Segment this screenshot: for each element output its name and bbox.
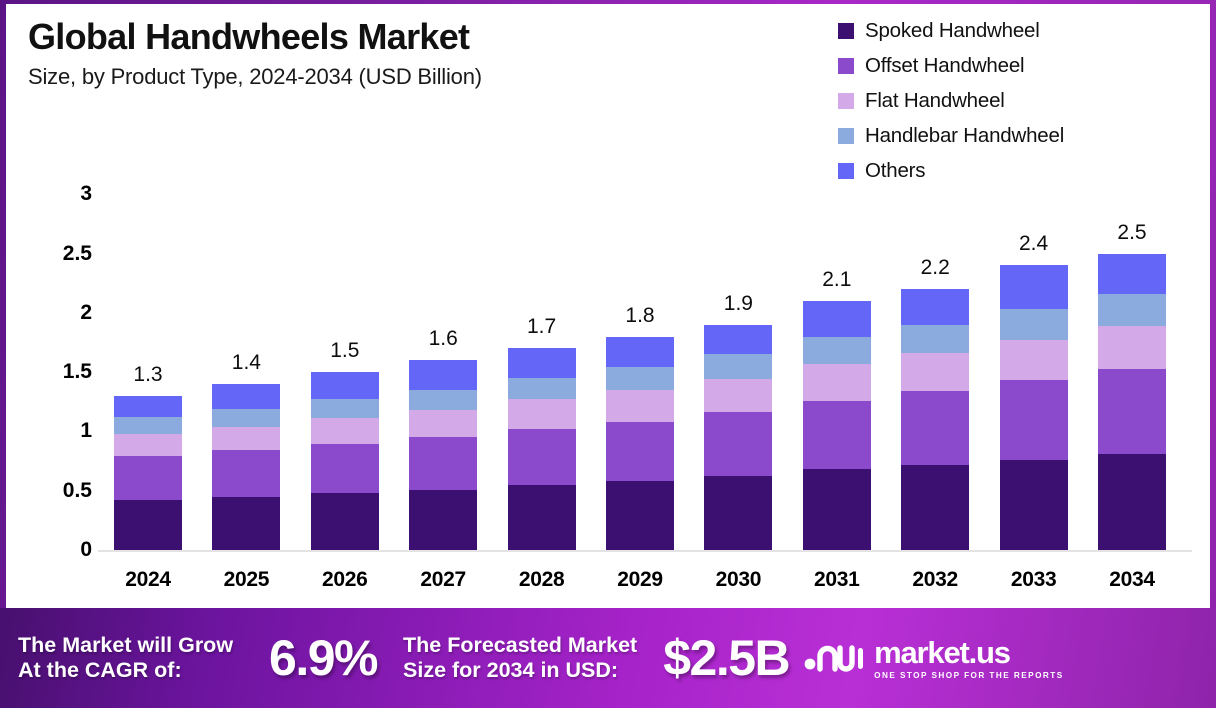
forecast-value: $2.5B (663, 629, 789, 687)
bar-segment-spoked-handwheel[interactable] (508, 485, 576, 550)
bar-segment-flat-handwheel[interactable] (311, 418, 379, 444)
bar-segment-handlebar-handwheel[interactable] (212, 409, 280, 427)
bar-segment-flat-handwheel[interactable] (901, 353, 969, 391)
bar-segment-flat-handwheel[interactable] (803, 364, 871, 401)
bar-segment-spoked-handwheel[interactable] (1098, 454, 1166, 550)
bar-stack (704, 325, 772, 550)
cagr-label-line2: At the CAGR of: (18, 658, 182, 682)
bar-segment-offset-handwheel[interactable] (409, 437, 477, 489)
forecast-label-line2: Size for 2034 in USD: (403, 658, 618, 682)
bar-segment-spoked-handwheel[interactable] (1000, 460, 1068, 550)
bar-segment-spoked-handwheel[interactable] (212, 497, 280, 550)
bar-segment-others[interactable] (114, 396, 182, 417)
bar-group-2030[interactable]: 1.92030 (704, 325, 772, 550)
bar-stack (803, 301, 871, 550)
bar-stack (1098, 254, 1166, 550)
bar-segment-flat-handwheel[interactable] (1000, 340, 1068, 380)
bar-segment-offset-handwheel[interactable] (901, 391, 969, 465)
cagr-label-line1: The Market will Grow (18, 633, 233, 657)
bar-segment-offset-handwheel[interactable] (1000, 380, 1068, 459)
bar-segment-offset-handwheel[interactable] (704, 412, 772, 476)
forecast-label: The Forecasted Market Size for 2034 in U… (403, 633, 637, 684)
bar-segment-handlebar-handwheel[interactable] (606, 367, 674, 390)
logo-tagline: ONE STOP SHOP FOR THE REPORTS (874, 671, 1063, 680)
y-axis-tick-2: 1 (80, 419, 92, 443)
bar-segment-handlebar-handwheel[interactable] (1098, 294, 1166, 326)
bar-segment-offset-handwheel[interactable] (1098, 369, 1166, 454)
y-axis-tick-1: 0.5 (63, 479, 92, 503)
bar-segment-flat-handwheel[interactable] (114, 434, 182, 457)
bar-segment-flat-handwheel[interactable] (508, 399, 576, 429)
forecast-label-line1: The Forecasted Market (403, 633, 637, 657)
bar-group-2025[interactable]: 1.42025 (212, 384, 280, 550)
bar-segment-others[interactable] (212, 384, 280, 409)
footer-banner: The Market will Grow At the CAGR of: 6.9… (0, 608, 1216, 708)
bar-segment-spoked-handwheel[interactable] (114, 500, 182, 550)
bar-segment-flat-handwheel[interactable] (212, 427, 280, 451)
bar-segment-handlebar-handwheel[interactable] (311, 399, 379, 418)
cagr-label: The Market will Grow At the CAGR of: (18, 633, 233, 684)
bar-group-2024[interactable]: 1.32024 (114, 396, 182, 550)
y-axis: 00.511.522.53 (36, 4, 92, 608)
bar-segment-handlebar-handwheel[interactable] (901, 325, 969, 353)
bar-series-container: 1.320241.420251.520261.620271.720281.820… (98, 4, 1192, 608)
chart-plot-area: 00.511.522.53 1.320241.420251.520261.620… (6, 4, 1210, 608)
bar-segment-others[interactable] (606, 337, 674, 368)
bar-group-2026[interactable]: 1.52026 (311, 372, 379, 550)
bar-segment-offset-handwheel[interactable] (114, 456, 182, 500)
bar-segment-others[interactable] (704, 325, 772, 355)
bar-segment-handlebar-handwheel[interactable] (409, 390, 477, 410)
bar-segment-handlebar-handwheel[interactable] (1000, 309, 1068, 340)
bar-stack (1000, 265, 1068, 550)
x-axis-label-2034: 2034 (1072, 568, 1192, 592)
y-axis-tick-5: 2.5 (63, 242, 92, 266)
brand-logo[interactable]: market.us ONE STOP SHOP FOR THE REPORTS (803, 637, 1063, 680)
bar-segment-others[interactable] (1098, 254, 1166, 294)
bar-group-2028[interactable]: 1.72028 (508, 348, 576, 550)
bar-group-2027[interactable]: 1.62027 (409, 360, 477, 550)
bar-segment-offset-handwheel[interactable] (803, 401, 871, 470)
bar-segment-others[interactable] (508, 348, 576, 378)
bar-stack (508, 348, 576, 550)
bar-group-2031[interactable]: 2.12031 (803, 301, 871, 550)
bar-segment-spoked-handwheel[interactable] (311, 493, 379, 550)
bar-stack (311, 372, 379, 550)
bar-segment-flat-handwheel[interactable] (704, 379, 772, 412)
bar-segment-others[interactable] (1000, 265, 1068, 309)
bar-segment-offset-handwheel[interactable] (508, 429, 576, 485)
bar-segment-others[interactable] (311, 372, 379, 399)
bar-segment-others[interactable] (901, 289, 969, 325)
bar-segment-offset-handwheel[interactable] (212, 450, 280, 496)
y-axis-tick-6: 3 (80, 182, 92, 206)
bar-segment-handlebar-handwheel[interactable] (803, 337, 871, 364)
bar-group-2033[interactable]: 2.42033 (1000, 265, 1068, 550)
bar-segment-spoked-handwheel[interactable] (803, 469, 871, 550)
bar-segment-handlebar-handwheel[interactable] (704, 354, 772, 379)
bar-segment-spoked-handwheel[interactable] (606, 481, 674, 550)
bar-group-2029[interactable]: 1.82029 (606, 337, 674, 550)
y-axis-tick-0: 0 (80, 538, 92, 562)
bar-stack (606, 337, 674, 550)
bar-segment-others[interactable] (803, 301, 871, 337)
bar-stack (409, 360, 477, 550)
bar-segment-offset-handwheel[interactable] (311, 444, 379, 493)
bar-segment-spoked-handwheel[interactable] (704, 476, 772, 550)
bar-segment-flat-handwheel[interactable] (409, 410, 477, 437)
bar-segment-flat-handwheel[interactable] (1098, 326, 1166, 369)
bar-value-label: 1.9 (678, 292, 798, 316)
bar-stack (114, 396, 182, 550)
bar-segment-spoked-handwheel[interactable] (901, 465, 969, 550)
bar-segment-handlebar-handwheel[interactable] (508, 378, 576, 399)
bar-segment-offset-handwheel[interactable] (606, 422, 674, 481)
bar-value-label: 2.5 (1072, 221, 1192, 245)
bar-group-2034[interactable]: 2.52034 (1098, 254, 1166, 550)
logo-wordmark: market.us (874, 637, 1063, 668)
cagr-value: 6.9% (269, 629, 377, 687)
bar-segment-others[interactable] (409, 360, 477, 390)
bar-segment-spoked-handwheel[interactable] (409, 490, 477, 550)
bar-value-label: 2.2 (875, 256, 995, 280)
logo-text: market.us ONE STOP SHOP FOR THE REPORTS (874, 637, 1063, 680)
bar-stack (212, 384, 280, 550)
bar-segment-handlebar-handwheel[interactable] (114, 417, 182, 434)
chart-card: Global Handwheels Market Size, by Produc… (6, 4, 1210, 608)
bar-group-2032[interactable]: 2.22032 (901, 289, 969, 550)
market-us-logo-icon (803, 639, 865, 678)
bar-stack (901, 289, 969, 550)
infographic-root: Global Handwheels Market Size, by Produc… (0, 0, 1216, 708)
bar-segment-flat-handwheel[interactable] (606, 390, 674, 422)
y-axis-tick-4: 2 (80, 301, 92, 325)
